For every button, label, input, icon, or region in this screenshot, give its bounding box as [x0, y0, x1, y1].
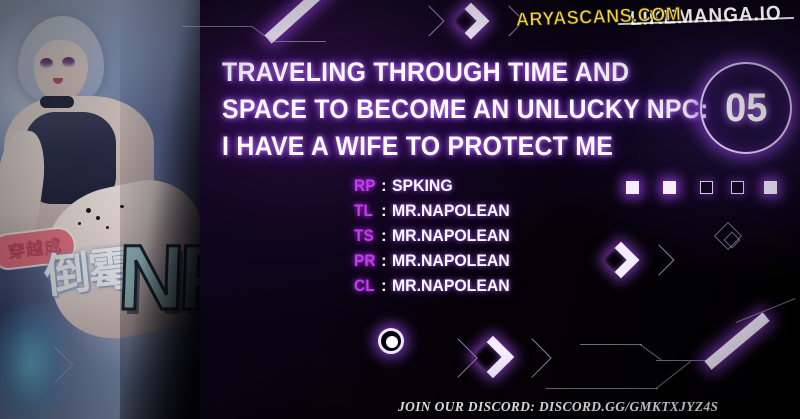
credits-list: RP : SPKING TL : MR.NAPOLEAN TS : MR.NAP…: [354, 176, 518, 301]
credit-role: TS: [354, 226, 377, 246]
chapter-number-text: 05: [725, 86, 767, 131]
decor-square-indicator: [764, 181, 777, 194]
character-eye-left: [40, 58, 53, 68]
decor-chevron-filled: [472, 336, 514, 378]
decor-dot-circle: [378, 328, 404, 354]
decor-chevron-outline: [643, 244, 674, 275]
decor-line-top: [182, 26, 252, 27]
decor-chevron-outline: [413, 5, 444, 36]
credit-separator: :: [381, 251, 387, 271]
credit-name: MR.NAPOLEAN: [392, 201, 510, 221]
decor-square-indicator: [626, 181, 639, 194]
decor-line-bottom: [640, 344, 662, 360]
art-speck: [96, 216, 100, 220]
credit-separator: :: [381, 226, 387, 246]
decor-line-bottom: [656, 361, 691, 389]
credit-row: PR : MR.NAPOLEAN: [354, 251, 518, 276]
decor-line-bottom: [546, 388, 658, 389]
character-collar: [40, 96, 74, 108]
decor-square-indicator: [700, 181, 713, 194]
title-line-1: TRAVELING THROUGH TIME AND: [222, 54, 645, 91]
credit-row: RP : SPKING: [354, 176, 518, 201]
credit-role: PR: [354, 251, 377, 271]
art-speck: [106, 226, 109, 229]
credit-separator: :: [381, 176, 387, 196]
art-speck: [78, 222, 81, 225]
chapter-number-badge: 05: [700, 62, 792, 154]
credit-row: TS : MR.NAPOLEAN: [354, 226, 518, 251]
credit-role: CL: [354, 276, 377, 296]
credit-row: CL : MR.NAPOLEAN: [354, 276, 518, 301]
decor-slash-top: [264, 0, 352, 44]
decor-chevron-outline: [512, 338, 552, 378]
credit-role: RP: [354, 176, 377, 196]
credit-name: SPKING: [392, 176, 453, 196]
cover-art-panel: 穿越成 倒霉 我有老 NP J: [0, 0, 200, 419]
credit-name: MR.NAPOLEAN: [392, 251, 510, 271]
discord-invite-text: JOIN OUR DISCORD: DISCORD.GG/GMKTXJYZ4S: [398, 400, 718, 416]
art-speck: [86, 208, 91, 213]
chapter-title-banner: 穿越成 倒霉 我有老 NP J LIKEMANGA.IO ARYASCANS.C…: [0, 0, 800, 419]
character-eye-right: [62, 57, 75, 67]
credit-separator: :: [381, 276, 387, 296]
credit-separator: :: [381, 201, 387, 221]
credit-row: TL : MR.NAPOLEAN: [354, 201, 518, 226]
credit-role: TL: [354, 201, 377, 221]
title-line-2: SPACE TO BECOME AN UNLUCKY NPC:: [222, 91, 645, 128]
credit-name: MR.NAPOLEAN: [392, 276, 510, 296]
decor-square-indicator: [663, 181, 676, 194]
title-line-3: I HAVE A WIFE TO PROTECT ME: [222, 128, 645, 165]
decor-chevron-filled: [453, 3, 490, 40]
credit-name: MR.NAPOLEAN: [392, 226, 510, 246]
decor-square-indicator: [731, 181, 744, 194]
title-block: TRAVELING THROUGH TIME AND SPACE TO BECO…: [222, 54, 682, 165]
decor-chevron-filled: [603, 242, 640, 279]
decor-line-bottom: [580, 344, 642, 345]
decor-line-top: [270, 41, 326, 42]
